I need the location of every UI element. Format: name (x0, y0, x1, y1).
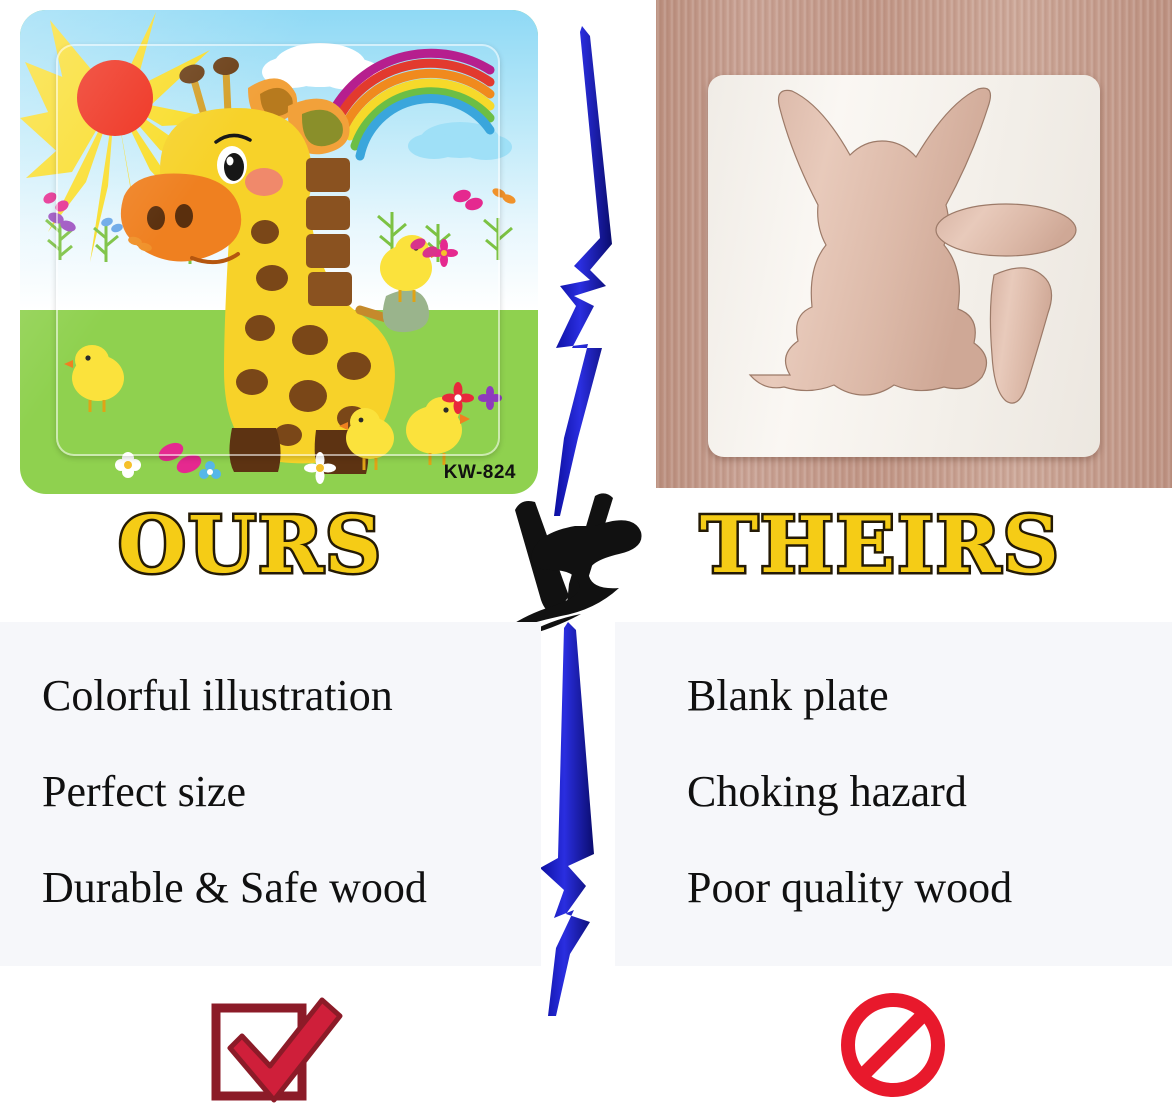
blank-wooden-board (708, 75, 1100, 457)
theirs-feature-panel: Blank plate Choking hazard Poor quality … (615, 622, 1172, 966)
list-item: Colorful illustration (42, 674, 427, 718)
list-item: Perfect size (42, 770, 427, 814)
lightning-divider-top (520, 18, 640, 518)
product-code-label: KW-824 (444, 462, 516, 484)
oval-cutout (936, 204, 1076, 256)
list-item: Blank plate (687, 674, 1012, 718)
cloud-right (408, 122, 512, 160)
list-item: Poor quality wood (687, 866, 1012, 910)
list-item: Durable & Safe wood (42, 866, 427, 910)
sun-disc (77, 60, 153, 136)
comparison-infographic: KW-824 (0, 0, 1172, 1120)
checkmark-icon (200, 986, 360, 1106)
list-item: Choking hazard (687, 770, 1012, 814)
ours-heading: OURS (118, 500, 383, 591)
carrot-cutout (990, 268, 1051, 403)
ours-product-image: KW-824 (20, 10, 538, 494)
prohibition-icon (840, 992, 946, 1098)
puzzle-artwork (20, 10, 538, 494)
theirs-heading: THEIRS (700, 500, 1061, 591)
board-cutouts (708, 75, 1100, 457)
theirs-feature-list: Blank plate Choking hazard Poor quality … (687, 674, 1012, 962)
ours-feature-list: Colorful illustration Perfect size Durab… (42, 674, 427, 962)
ours-feature-panel: Colorful illustration Perfect size Durab… (0, 622, 541, 966)
theirs-product-image (656, 0, 1172, 488)
